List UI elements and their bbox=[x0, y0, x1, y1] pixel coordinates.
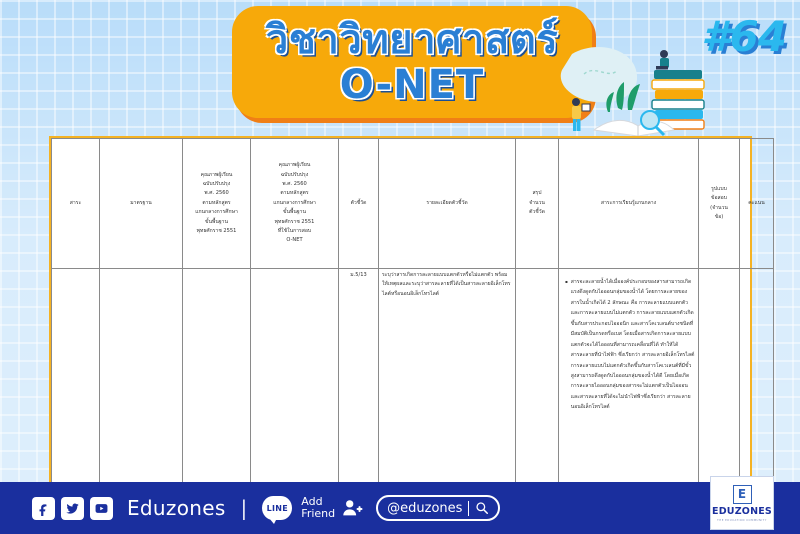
handle-text: @eduzones bbox=[387, 501, 462, 516]
issue-number-badge: #64 bbox=[701, 12, 786, 61]
cell-core-content: ▪ สารจะละลายน้ำได้เมื่อองค์ประกอบของสารส… bbox=[559, 269, 699, 483]
onet-indicator-table: สาระ มาตรฐาน คุณภาพผู้เรียน ฉบับปรับปรุง… bbox=[51, 138, 774, 483]
footer-bar: Eduzones | LINE Add Friend @eduzones E E… bbox=[0, 482, 800, 534]
hdr-line: แกนกลางการศึกษา bbox=[273, 200, 316, 206]
cell-score bbox=[740, 269, 774, 483]
hdr-line: ข้อสอบ bbox=[711, 195, 727, 201]
hdr-line: O-NET bbox=[286, 237, 302, 243]
logo-tagline: THE EDUCATION COMMUNITY bbox=[717, 519, 767, 522]
hdr-line: ตัวชี้วัด bbox=[529, 209, 545, 215]
hdr-line: พ.ศ. 2560 bbox=[204, 190, 228, 196]
onet-indicator-table-wrapper: สาระ มาตรฐาน คุณภาพผู้เรียน ฉบับปรับปรุง… bbox=[49, 136, 752, 485]
table-body: ม.5/13 ระบุว่าสารเกิดการละลายแบบแตกตัวหร… bbox=[52, 269, 774, 483]
column-header-core-content: สาระการเรียนรู้แกนกลาง bbox=[559, 139, 699, 269]
hdr-line: ตามหลักสูตร bbox=[202, 200, 230, 206]
youtube-icon[interactable] bbox=[90, 497, 113, 520]
cell-standard bbox=[100, 269, 183, 483]
logo-wordmark: EDUZONES bbox=[712, 506, 772, 517]
eduzones-logo: E EDUZONES THE EDUCATION COMMUNITY bbox=[710, 476, 774, 530]
line-label: LINE bbox=[267, 504, 288, 513]
footer-divider: | bbox=[241, 496, 248, 520]
cloud-shape bbox=[561, 47, 637, 102]
hdr-line: คุณภาพผู้เรียน bbox=[201, 172, 233, 178]
hdr-line: คุณภาพผู้เรียน bbox=[279, 162, 311, 168]
cell-indicator-detail: ระบุว่าสารเกิดการละลายแบบแตกตัวหรือไม่แต… bbox=[379, 269, 516, 483]
column-header-score: คะแนน bbox=[740, 139, 774, 269]
cell-quality-2560 bbox=[183, 269, 251, 483]
twitter-icon[interactable] bbox=[61, 497, 84, 520]
add-friend-line2: Friend bbox=[301, 508, 335, 520]
column-header-exam-format: รูปแบบ ข้อสอบ (จำนวน ข้อ) bbox=[699, 139, 740, 269]
add-friend-label[interactable]: Add Friend bbox=[301, 496, 335, 520]
column-header-strand: สาระ bbox=[52, 139, 100, 269]
hdr-line: จำนวน bbox=[529, 200, 545, 206]
table-header-row: สาระ มาตรฐาน คุณภาพผู้เรียน ฉบับปรับปรุง… bbox=[52, 139, 774, 269]
table-row: ม.5/13 ระบุว่าสารเกิดการละลายแบบแตกตัวหร… bbox=[52, 269, 774, 483]
header-banner: วิชาวิทยาศาสตร์ O-NET #64 bbox=[0, 0, 800, 134]
line-icon[interactable]: LINE bbox=[262, 496, 292, 520]
column-header-indicator: ตัวชี้วัด bbox=[339, 139, 379, 269]
hdr-line: พุทธศักราช 2551 bbox=[275, 219, 315, 225]
search-icon[interactable] bbox=[475, 501, 489, 515]
column-header-indicator-count: สรุป จำนวน ตัวชี้วัด bbox=[516, 139, 559, 269]
page-title-line2: O-NET bbox=[340, 63, 484, 107]
footer-social-group: Eduzones | LINE Add Friend @eduzones bbox=[32, 482, 500, 534]
hdr-line: พุทธศักราช 2551 bbox=[197, 228, 237, 234]
hdr-line: แกนกลางการศึกษา bbox=[195, 209, 238, 215]
hdr-line: ข้อ) bbox=[715, 214, 724, 220]
handle-separator bbox=[468, 501, 469, 516]
column-header-quality-2560: คุณภาพผู้เรียน ฉบับปรับปรุง พ.ศ. 2560 ตา… bbox=[183, 139, 251, 269]
hdr-line: ตามหลักสูตร bbox=[280, 190, 308, 196]
core-content-text: สารจะละลายน้ำได้เมื่อองค์ประกอบของสารสาม… bbox=[571, 277, 695, 413]
column-header-standard: มาตรฐาน bbox=[100, 139, 183, 269]
table-header: สาระ มาตรฐาน คุณภาพผู้เรียน ฉบับปรับปรุง… bbox=[52, 139, 774, 269]
hdr-line: สรุป bbox=[532, 190, 541, 196]
hdr-line: ฉบับปรับปรุง bbox=[203, 181, 231, 187]
column-header-quality-2560-onet: คุณภาพผู้เรียน ฉบับปรับปรุง พ.ศ. 2560 ตา… bbox=[251, 139, 339, 269]
cell-exam-format bbox=[699, 269, 740, 483]
hdr-line: รูปแบบ bbox=[711, 186, 727, 192]
page-title-line1: วิชาวิทยาศาสตร์ bbox=[266, 19, 559, 61]
hdr-line: ฉบับปรับปรุง bbox=[281, 172, 309, 178]
bullet-square-icon: ▪ bbox=[565, 277, 568, 413]
books-and-students-reading-illustration bbox=[552, 44, 712, 140]
add-person-icon[interactable] bbox=[341, 497, 363, 519]
hdr-line: (จำนวน bbox=[710, 205, 728, 211]
hdr-line: พ.ศ. 2560 bbox=[282, 181, 306, 187]
title-badge: วิชาวิทยาศาสตร์ O-NET bbox=[232, 6, 592, 118]
student-sitting bbox=[656, 50, 669, 70]
column-header-indicator-detail: รายละเอียดตัวชี้วัด bbox=[379, 139, 516, 269]
cell-strand bbox=[52, 269, 100, 483]
core-content-bullet-row: ▪ สารจะละลายน้ำได้เมื่อองค์ประกอบของสารส… bbox=[562, 271, 695, 413]
cell-indicator: ม.5/13 bbox=[339, 269, 379, 483]
handle-pill[interactable]: @eduzones bbox=[376, 495, 500, 521]
student-standing bbox=[572, 98, 590, 131]
brand-name: Eduzones bbox=[127, 496, 226, 520]
hdr-line: ขั้นพื้นฐาน bbox=[283, 209, 306, 215]
logo-mark: E bbox=[733, 485, 752, 504]
hdr-line: ขั้นพื้นฐาน bbox=[205, 219, 228, 225]
facebook-icon[interactable] bbox=[32, 497, 55, 520]
cell-indicator-count bbox=[516, 269, 559, 483]
hdr-line: ที่ใช้ในการสอบ bbox=[278, 228, 311, 234]
cell-quality-2560-onet bbox=[251, 269, 339, 483]
